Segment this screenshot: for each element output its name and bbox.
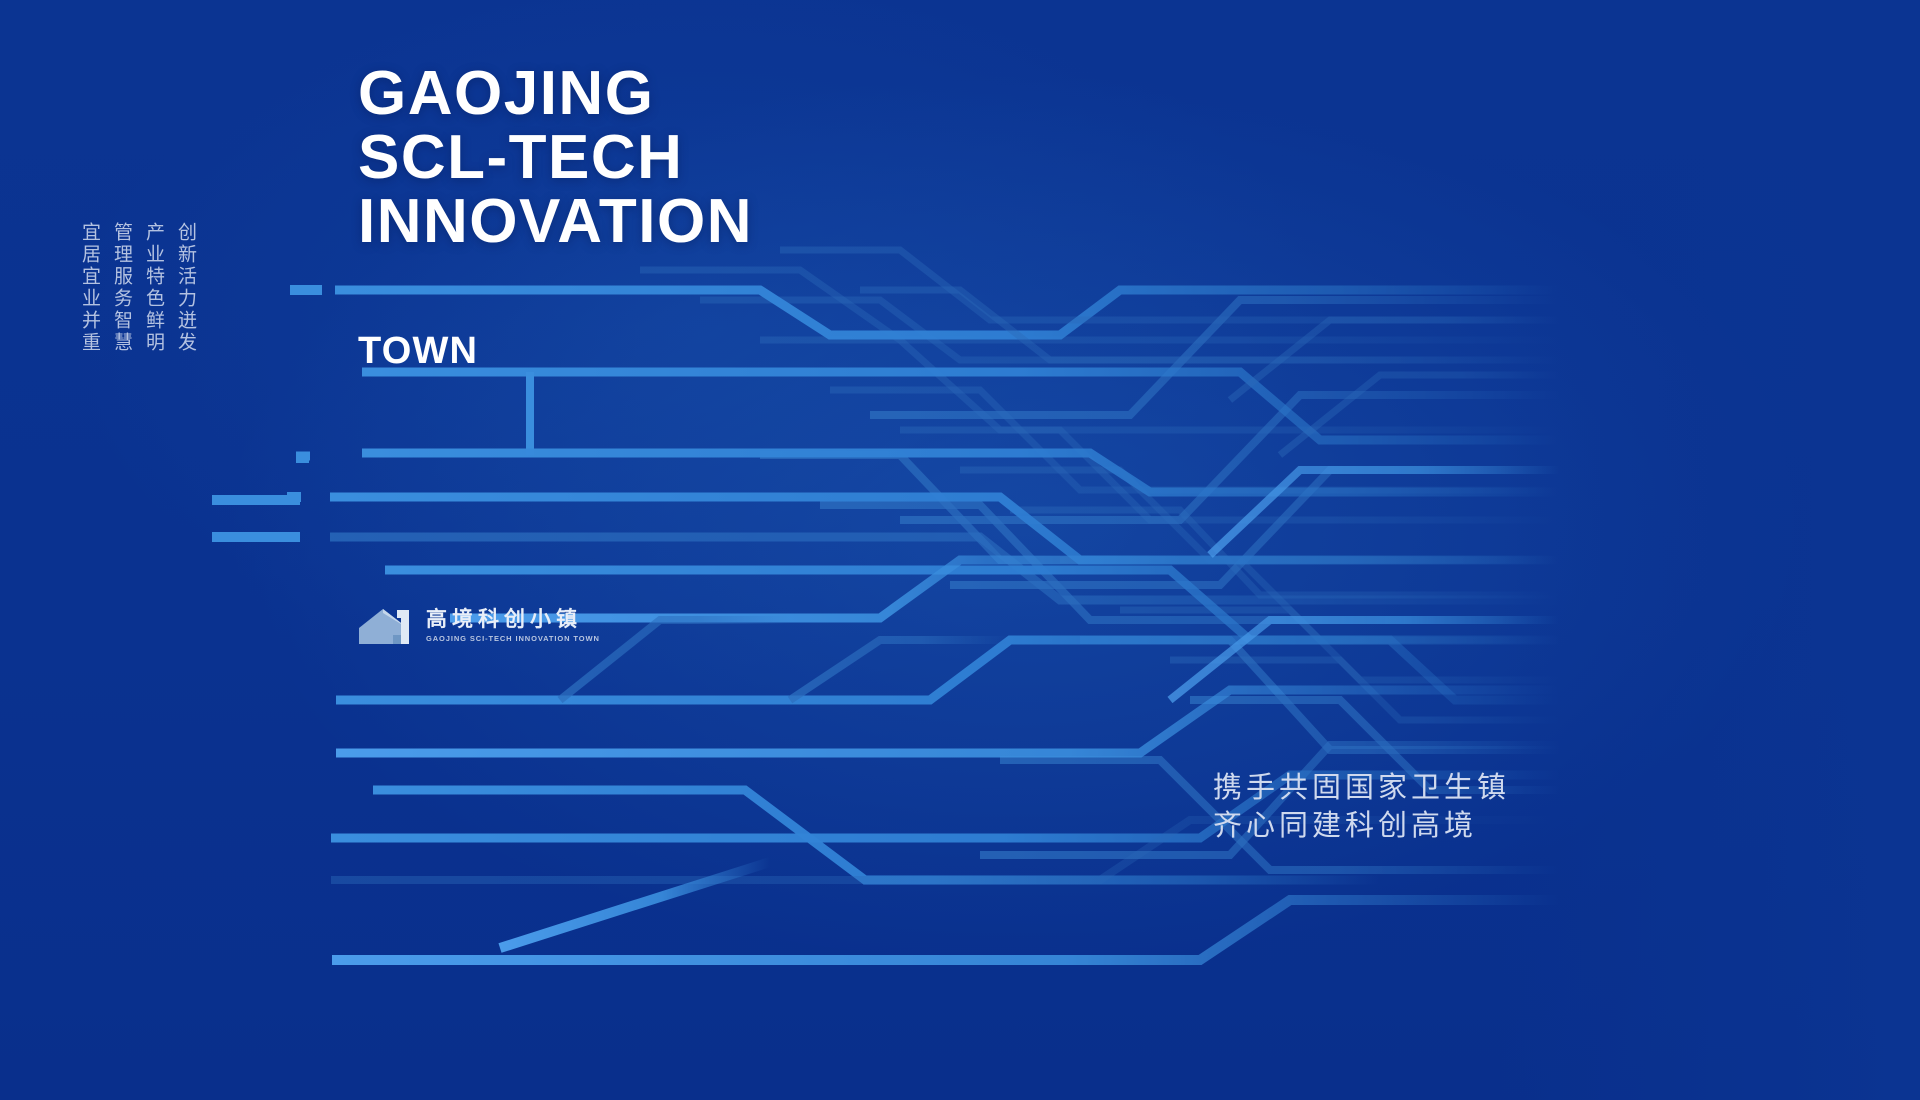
bottom-slogan: 携手共固国家卫生镇 齐心同建科创高境: [1213, 769, 1510, 845]
circuit-line-graphic: [0, 0, 1920, 1100]
brand-logo: 高境科创小镇 GAOJING SCI-TECH INNOVATION TOWN: [357, 604, 600, 648]
page-subtitle: TOWN: [358, 330, 478, 373]
logo-name-en: GAOJING SCI-TECH INNOVATION TOWN: [426, 633, 600, 644]
vertical-slogan-line-4: 宜居宜业并重: [78, 222, 100, 432]
vertical-slogan-line-3: 管理服务智慧: [110, 222, 132, 432]
page-title: GAOJING SCL-TECH INNOVATION: [358, 62, 753, 254]
logo-name-cn: 高境科创小镇: [426, 608, 600, 631]
vertical-slogan-line-1: 创新活力迸发: [174, 222, 196, 432]
poster-canvas: GAOJING SCL-TECH INNOVATION TOWN 创新活力迸发 …: [0, 0, 1920, 1100]
vertical-slogan: 创新活力迸发 产业特色鲜明 管理服务智慧 宜居宜业并重: [78, 222, 196, 432]
house-icon: [357, 604, 415, 648]
vertical-slogan-line-2: 产业特色鲜明: [142, 222, 164, 432]
